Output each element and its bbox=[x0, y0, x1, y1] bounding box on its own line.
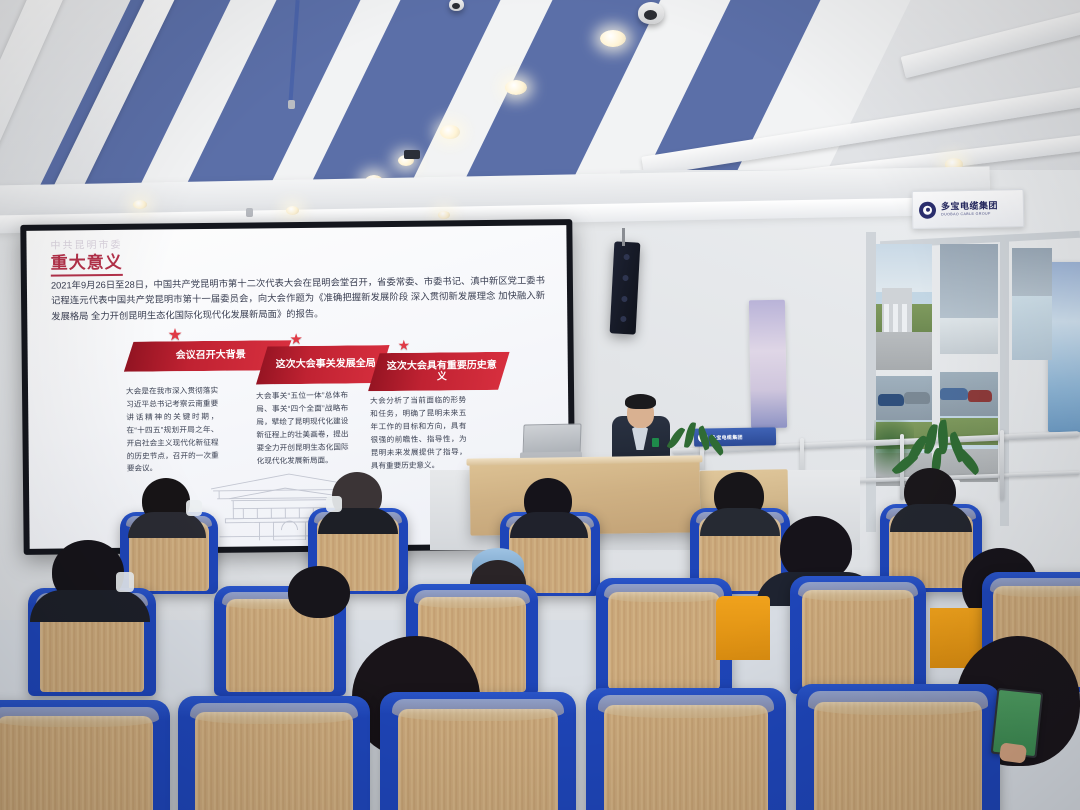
wall-poster-right bbox=[1048, 262, 1080, 432]
seat-wood-panel bbox=[195, 712, 352, 810]
parked-car bbox=[968, 390, 992, 402]
seat-upholstery-lip bbox=[598, 695, 774, 718]
seat-wood-panel bbox=[0, 716, 153, 810]
window-pane-far-right bbox=[1012, 248, 1052, 360]
mezzanine-railing-post bbox=[1000, 430, 1004, 500]
parked-car bbox=[878, 394, 904, 406]
slide-banner-2: 这次大会事关发展全局 bbox=[256, 345, 390, 384]
seat-row-c[interactable] bbox=[0, 700, 170, 810]
seat-upholstery-lip bbox=[392, 699, 564, 721]
seat-row-b[interactable] bbox=[596, 578, 732, 694]
company-signboard: 多宝电缆集团 DUOBAO CABLE GROUP bbox=[912, 189, 1025, 229]
seat-upholstery-lip bbox=[414, 590, 530, 608]
window-blind bbox=[940, 244, 998, 318]
seat-wood-panel bbox=[802, 590, 914, 689]
slide-title: 重大意义 bbox=[51, 248, 123, 277]
seat-upholstery-lip bbox=[0, 707, 159, 728]
audience-head bbox=[288, 566, 350, 618]
seat-wood-panel bbox=[608, 592, 720, 689]
parked-car bbox=[904, 392, 930, 404]
company-name-cn: 多宝电缆集团 bbox=[941, 201, 998, 211]
seat-row-c[interactable] bbox=[380, 692, 576, 810]
seat-wood-panel bbox=[814, 702, 981, 810]
window-pane-upper-right bbox=[940, 244, 998, 354]
wall-poster-left bbox=[749, 300, 787, 429]
parked-car bbox=[940, 388, 968, 400]
audience-shoulder bbox=[700, 508, 780, 536]
soffit-downlight bbox=[286, 206, 299, 215]
audience-yellow-jacket bbox=[716, 596, 770, 660]
ceiling-projector-box bbox=[404, 150, 420, 159]
window-blind bbox=[1012, 248, 1052, 296]
seat-row-c[interactable] bbox=[796, 684, 1000, 810]
slide-column-1: 大会是在我市深入贯彻落实习近平总书记考察云南重要讲话精神的关键时期，在“十四五”… bbox=[126, 385, 219, 476]
seat-upholstery-lip bbox=[808, 691, 988, 714]
face-mask bbox=[326, 496, 342, 512]
face-mask bbox=[116, 572, 134, 592]
presenter-hair bbox=[625, 394, 656, 409]
audience-shoulder bbox=[890, 504, 972, 532]
window-pane-upper-left bbox=[876, 244, 932, 370]
red-star-icon: ★ bbox=[397, 337, 410, 354]
audience-hand bbox=[999, 742, 1027, 763]
slide-body-text: 2021年9月26日至28日，中国共产党昆明市第十二次代表大会在昆明会堂召开，省… bbox=[51, 273, 545, 324]
speaker-mount-bracket bbox=[622, 228, 625, 246]
conference-room-photo: 中共昆明市委 重大意义 2021年9月26日至28日，中国共产党昆明市第十二次代… bbox=[0, 0, 1080, 810]
dome-security-camera bbox=[449, 0, 464, 11]
slide-column-3: 大会分析了当前面临的形势和任务，明确了昆明未来五年工作的目标和方向，具有很强的前… bbox=[370, 394, 467, 472]
seat-wood-panel bbox=[398, 709, 559, 810]
company-name-en: DUOBAO CABLE GROUP bbox=[941, 212, 998, 217]
ceiling-downlight bbox=[505, 80, 527, 95]
red-star-icon: ★ bbox=[289, 330, 303, 348]
ceiling-beam bbox=[901, 4, 1080, 79]
stage-plant bbox=[666, 420, 726, 470]
seat-row-b[interactable] bbox=[790, 576, 926, 694]
soffit-downlight bbox=[133, 200, 147, 209]
seat-upholstery-lip bbox=[798, 582, 918, 601]
company-logo-icon bbox=[919, 201, 936, 218]
seat-upholstery-lip bbox=[604, 584, 724, 603]
face-mask bbox=[186, 500, 202, 516]
slide-column-2: 大会事关“五位一体”总体布局、事关“四个全面”战略布局，擘绘了昆明现代化建设新征… bbox=[256, 389, 349, 467]
seat-row-c[interactable] bbox=[586, 688, 786, 810]
audience-shoulder bbox=[510, 512, 588, 538]
seat-row-c[interactable] bbox=[178, 696, 370, 810]
line-array-speaker bbox=[610, 241, 641, 334]
seat-wood-panel bbox=[604, 705, 768, 810]
window-mullion bbox=[866, 232, 876, 532]
sprinkler-head bbox=[246, 208, 253, 217]
ceiling-downlight bbox=[440, 125, 460, 139]
slide-banner-3: 这次大会具有重要历史意义 bbox=[368, 352, 510, 391]
dome-security-camera bbox=[638, 2, 664, 24]
sprinkler-head bbox=[288, 100, 295, 109]
seat-upholstery-lip bbox=[190, 703, 359, 724]
audience-shoulder bbox=[30, 590, 150, 622]
seat-upholstery-lip bbox=[990, 578, 1080, 597]
presenter-badge bbox=[652, 438, 659, 447]
ceiling-downlight bbox=[600, 30, 626, 47]
soffit-downlight bbox=[438, 211, 450, 219]
